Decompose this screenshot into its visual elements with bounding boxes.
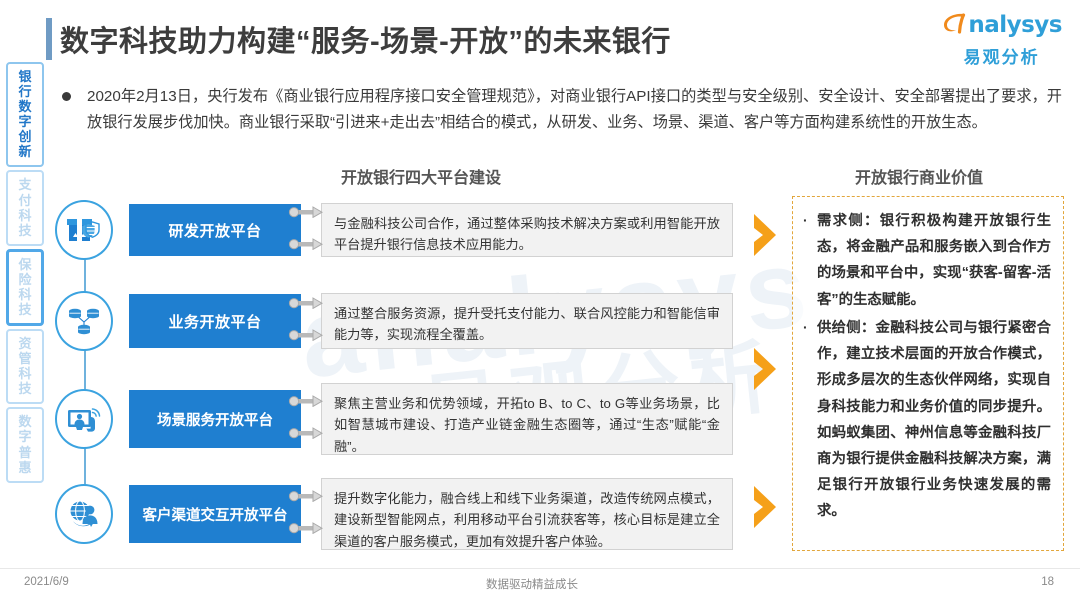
platform-row-2: 业务开放平台 通过整合服务资源，提升受托支付能力、联合风控能力和智能信审能力等，… xyxy=(55,291,733,351)
logo-wordmark: nalysys xyxy=(968,14,1062,37)
package-shield-icon xyxy=(55,200,113,260)
tab-char: 资 xyxy=(8,336,42,351)
business-value-box: · 需求侧：银行积极构建开放银行生态，将金融产品和服务嵌入到合作方的场景和平台中… xyxy=(792,196,1064,551)
tab-char: 创 xyxy=(8,129,42,144)
tab-char: 银 xyxy=(8,69,42,84)
globe-user-icon xyxy=(55,484,113,544)
connector-1 xyxy=(287,205,325,255)
tab-char: 技 xyxy=(8,381,42,396)
tab-char: 新 xyxy=(8,144,42,159)
intro-bullet: 2020年2月13日，央行发布《商业银行应用程序接口安全管理规范》，对商业银行A… xyxy=(62,84,1062,136)
sidebar-item-insurance-tech[interactable]: 保 险 科 技 xyxy=(6,249,44,326)
tab-char: 数 xyxy=(8,414,42,429)
platform-row-3: 场景服务开放平台 聚焦主营业务和优势领域，开拓to B、to C、to G等业务… xyxy=(55,383,733,455)
tab-char: 数 xyxy=(8,99,42,114)
tab-char: 技 xyxy=(8,223,42,238)
chevron-right-icon xyxy=(752,212,790,263)
platform-row-1: 研发开放平台 与金融科技公司合作，通过整体采购技术解决方案或利用智能开放平台提升… xyxy=(55,200,733,260)
right-column-heading: 开放银行商业价值 xyxy=(855,164,983,188)
value-bullet-icon: · xyxy=(803,208,813,313)
connector-arrow-icon xyxy=(287,426,325,444)
connector-4 xyxy=(287,489,325,539)
connector-arrow-icon xyxy=(287,394,325,412)
connector-arrow-icon xyxy=(287,489,325,507)
value-text: 供给侧：金融科技公司与银行紧密合作，建立技术层面的开放合作模式，形成多层次的生态… xyxy=(817,315,1051,525)
tab-char: 科 xyxy=(9,287,41,302)
connector-arrow-icon xyxy=(287,296,325,314)
tab-char: 惠 xyxy=(8,460,42,475)
value-list-item: · 需求侧：银行积极构建开放银行生态，将金融产品和服务嵌入到合作方的场景和平台中… xyxy=(803,208,1051,313)
tab-char: 保 xyxy=(9,257,41,272)
tab-char: 行 xyxy=(8,84,42,99)
bullet-dot-icon xyxy=(62,92,71,101)
platform-label-1[interactable]: 研发开放平台 xyxy=(129,204,301,256)
left-column-heading: 开放银行四大平台建设 xyxy=(341,164,501,188)
chevron-right-icon xyxy=(752,346,790,397)
footer-date: 2021/6/9 xyxy=(24,576,69,588)
footer-divider xyxy=(0,568,1080,569)
footer-tagline: 数据驱动精益成长 xyxy=(486,576,578,592)
sidebar-item-payment-tech[interactable]: 支 付 科 技 xyxy=(6,170,44,245)
platform-row-4: 客户渠道交互开放平台 提升数字化能力，融合线上和线下业务渠道，改造传统网点模式，… xyxy=(55,478,733,550)
connector-2 xyxy=(287,296,325,346)
sidebar-item-asset-management-tech[interactable]: 资 管 科 技 xyxy=(6,329,44,404)
platform-desc-4: 提升数字化能力，融合线上和线下业务渠道，改造传统网点模式，建设新型智能网点，利用… xyxy=(321,478,733,550)
tab-char: 管 xyxy=(8,351,42,366)
platform-desc-2: 通过整合服务资源，提升受托支付能力、联合风控能力和智能信审能力等，实现流程全覆盖… xyxy=(321,293,733,349)
tab-char: 付 xyxy=(8,193,42,208)
value-bullet-icon: · xyxy=(803,315,813,525)
logo-swoosh-icon xyxy=(941,10,967,40)
analysys-logo: nalysys 易观分析 xyxy=(941,10,1062,68)
connector-arrow-icon xyxy=(287,237,325,255)
intro-paragraph: 2020年2月13日，央行发布《商业银行应用程序接口安全管理规范》，对商业银行A… xyxy=(87,84,1062,136)
sidebar-item-digital-inclusive-finance[interactable]: 数 字 普 惠 xyxy=(6,407,44,482)
sidebar-tabs: 银 行 数 字 创 新 支 付 科 技 保 险 科 技 资 管 科 技 数 字 xyxy=(6,62,44,486)
page-title: 数字科技助力构建“服务-场景-开放”的未来银行 xyxy=(60,18,671,60)
value-text: 需求侧：银行积极构建开放银行生态，将金融产品和服务嵌入到合作方的场景和平台中，实… xyxy=(817,208,1051,313)
tab-char: 科 xyxy=(8,366,42,381)
database-network-icon xyxy=(55,291,113,351)
tab-char: 险 xyxy=(9,272,41,287)
tab-char: 科 xyxy=(8,208,42,223)
connector-3 xyxy=(287,394,325,444)
logo-chinese-name: 易观分析 xyxy=(941,43,1062,68)
footer-page-number: 18 xyxy=(1041,576,1054,588)
platform-desc-3: 聚焦主营业务和优势领域，开拓to B、to C、to G等业务场景，比如智慧城市… xyxy=(321,383,733,455)
slide-canvas: analysys 易观分析 数字科技助力构建“服务-场景-开放”的未来银行 na… xyxy=(0,0,1080,608)
sidebar-item-bank-digital-innovation[interactable]: 银 行 数 字 创 新 xyxy=(6,62,44,167)
platform-desc-1: 与金融科技公司合作，通过整体采购技术解决方案或利用智能开放平台提升银行信息技术应… xyxy=(321,203,733,257)
chevron-right-icon xyxy=(752,484,790,535)
tab-char: 技 xyxy=(9,302,41,317)
title-accent-bar xyxy=(46,18,52,60)
tab-char: 支 xyxy=(8,177,42,192)
connector-arrow-icon xyxy=(287,205,325,223)
tab-char: 普 xyxy=(8,445,42,460)
connector-arrow-icon xyxy=(287,328,325,346)
platform-label-3[interactable]: 场景服务开放平台 xyxy=(129,390,301,448)
connector-arrow-icon xyxy=(287,521,325,539)
screen-user-wifi-icon xyxy=(55,389,113,449)
platform-label-2[interactable]: 业务开放平台 xyxy=(129,294,301,348)
tab-char: 字 xyxy=(8,114,42,129)
tab-char: 字 xyxy=(8,429,42,444)
platform-label-4[interactable]: 客户渠道交互开放平台 xyxy=(129,485,301,543)
value-list-item: · 供给侧：金融科技公司与银行紧密合作，建立技术层面的开放合作模式，形成多层次的… xyxy=(803,315,1051,525)
